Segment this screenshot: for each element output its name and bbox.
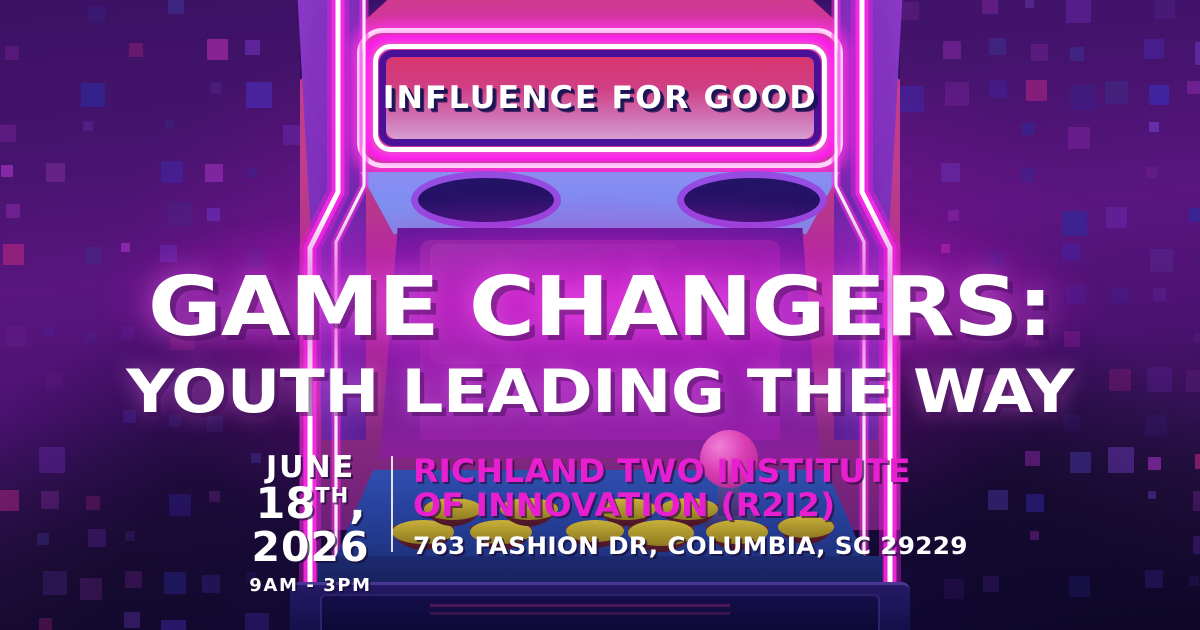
event-time: 9AM - 3PM — [248, 575, 373, 596]
marquee-face: INFLUENCE FOR GOOD — [386, 57, 814, 139]
date-day: 18 — [255, 479, 315, 529]
event-venue-block: RICHLAND TWO INSTITUTE OF INNOVATION (R2… — [413, 452, 952, 560]
venue-address: 763 FASHION DR, COLUMBIA, SC 29229 — [413, 532, 968, 560]
date-year: 2026 — [248, 526, 373, 569]
venue-name-line1: RICHLAND TWO INSTITUTE — [413, 454, 968, 488]
date-ordinal: TH — [315, 484, 349, 508]
page-title: GAME CHANGERS: — [0, 268, 1200, 348]
page-subtitle: YOUTH LEADING THE WAY — [0, 362, 1200, 422]
event-poster: INFLUENCE FOR GOOD — [0, 0, 1200, 630]
neon-sign-icon: INFLUENCE FOR GOOD — [357, 28, 843, 168]
details-divider — [391, 456, 393, 552]
headline-block: GAME CHANGERS: YOUTH LEADING THE WAY — [0, 268, 1200, 422]
marquee-title: INFLUENCE FOR GOOD — [383, 80, 818, 116]
base-detail-line — [430, 604, 730, 607]
date-comma: , — [349, 479, 365, 529]
base-detail-line — [430, 612, 730, 615]
event-date-block: JUNE 18TH, 2026 9AM - 3PM — [248, 452, 373, 596]
event-details: JUNE 18TH, 2026 9AM - 3PM RICHLAND TWO I… — [248, 452, 1008, 596]
date-day-row: 18TH, — [248, 483, 373, 526]
venue-name-line2: OF INNOVATION (R2I2) — [413, 488, 968, 522]
